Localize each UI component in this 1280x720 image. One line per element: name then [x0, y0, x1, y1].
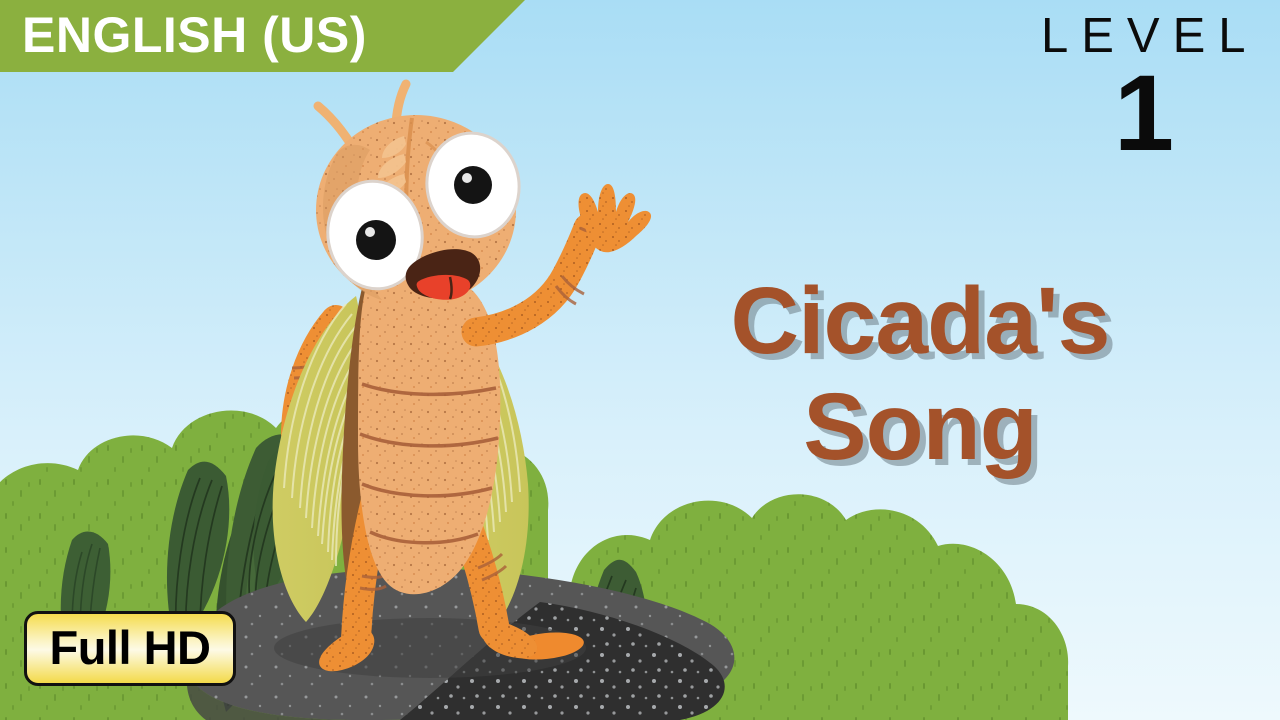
story-title-line-2: Song [640, 374, 1200, 480]
title-card: ENGLISH (US) LEVEL 1 Cicada's Song Full … [0, 0, 1280, 720]
story-title: Cicada's Song [640, 268, 1200, 481]
language-banner-label: ENGLISH (US) [0, 10, 367, 60]
quality-badge-label: Full HD [50, 624, 211, 671]
level-indicator: LEVEL 1 [1028, 12, 1258, 162]
language-banner: ENGLISH (US) [0, 0, 525, 72]
quality-badge: Full HD [24, 611, 236, 686]
story-title-line-1: Cicada's [640, 268, 1200, 374]
level-number-value: 1 [1028, 63, 1258, 162]
